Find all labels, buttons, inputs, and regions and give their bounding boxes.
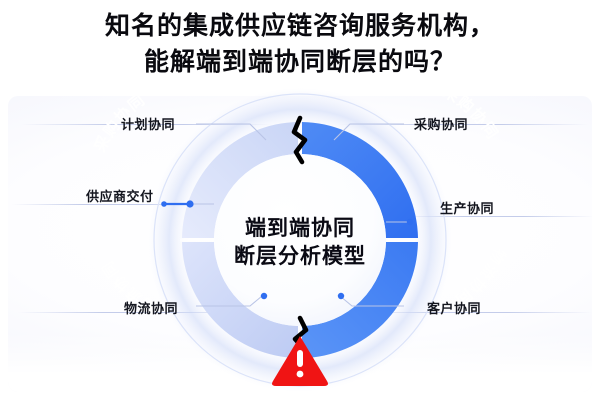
callout-purchase[interactable]: 采购协同 [414, 114, 468, 133]
callout-supplier[interactable]: 供应商交付 [86, 186, 154, 205]
ring-seam-right [384, 239, 420, 242]
callout-produce[interactable]: 生产协同 [440, 198, 494, 217]
page-title: 知名的集成供应链咨询服务机构， 能解端到端协同断层的吗？ [0, 8, 600, 80]
callout-customer[interactable]: 客户协同 [427, 298, 481, 317]
callout-plan[interactable]: 计划协同 [121, 114, 175, 133]
callout-logistics[interactable]: 物流协同 [124, 298, 178, 317]
ring-label-top-right: 采购协同 [439, 82, 502, 143]
center-title-line-2: 断层分析模型 [234, 244, 366, 268]
title-line-1: 知名的集成供应链咨询服务机构， [0, 8, 600, 44]
ring-seam-left [180, 239, 216, 242]
center-title-line-1: 端到端协同 [245, 216, 355, 240]
dot-customer [338, 293, 344, 299]
warning-exclamation-bar [297, 350, 303, 367]
title-line-2: 能解端到端协同断层的吗？ [0, 44, 600, 80]
screenshot-root: 知名的集成供应链咨询服务机构， 能解端到端协同断层的吗？ [0, 0, 600, 400]
ring-core [214, 154, 386, 326]
dot-logistics [261, 293, 267, 299]
warning-exclamation-dot [297, 371, 304, 378]
ring-label-top-right-text: 采购协同 [439, 82, 502, 143]
dot-produce-inner [407, 219, 413, 225]
